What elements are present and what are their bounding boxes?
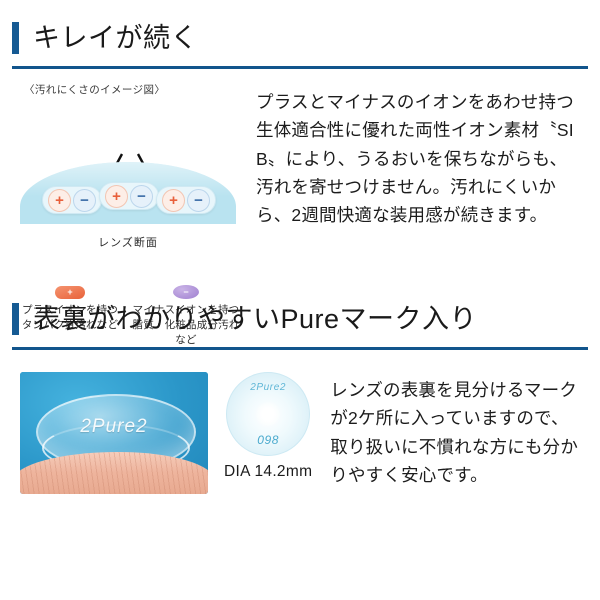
product-feature-page: キレイが続く 〈汚れにくさのイメージ図〉 + − + xyxy=(0,0,600,600)
heading-accent-bar xyxy=(12,22,19,54)
lens-engraving-text: 2Pure2 xyxy=(20,416,208,438)
section-2-content: 2Pure2 2Pure2 098 DIA 14.2mm レンズの表裏を見分ける… xyxy=(20,372,588,494)
body-line: プラスとマイナスのイオンをあわせ持つ xyxy=(256,88,574,116)
minus-ion-icon: − xyxy=(73,189,96,212)
section-2-body-text: レンズの表裏を見分けるマーク が2ケ所に入っていますので、 取り扱いに不慣れな方… xyxy=(330,372,578,489)
diameter-label: DIA 14.2mm xyxy=(224,463,312,481)
minus-ion-icon: − xyxy=(187,189,210,212)
lens-cross-section-diagram: 〈汚れにくさのイメージ図〉 + − + − + xyxy=(12,82,244,282)
minus-particle-swatch-icon: − xyxy=(173,285,199,299)
pure-mark-bottom-text: 098 xyxy=(227,433,309,447)
plus-ion-icon: + xyxy=(162,189,185,212)
legend-swatch: − xyxy=(128,284,244,300)
body-line: 生体適合性に優れた両性イオン素材〝SI xyxy=(256,116,574,144)
section-1-body-text: プラスとマイナスのイオンをあわせ持つ 生体適合性に優れた両性イオン素材〝SI B… xyxy=(256,82,574,230)
lens-cross-section-label: レンズ断面 xyxy=(12,234,244,250)
section-heading-2: 表裏がわかりやすいPureマーク入り xyxy=(12,303,477,335)
section-2-title: 表裏がわかりやすいPureマーク入り xyxy=(33,306,477,333)
section-1-title: キレイが続く xyxy=(33,25,198,52)
section-2-divider xyxy=(12,347,588,350)
plus-ion-icon: + xyxy=(105,185,128,208)
body-line: 取り扱いに不慣れな方にも分か xyxy=(330,433,578,461)
section-heading-1: キレイが続く xyxy=(12,22,198,54)
body-line: 汚れを寄せつけません。汚れにくいか xyxy=(256,173,574,201)
ion-pair: + − xyxy=(99,182,159,210)
lens-on-finger-photo: 2Pure2 xyxy=(20,372,208,494)
minus-ion-icon: − xyxy=(130,185,153,208)
pure-mark-diagram: 2Pure2 098 DIA 14.2mm xyxy=(224,372,312,481)
lens-circle-shape: 2Pure2 098 xyxy=(226,372,310,456)
body-line: ら、2週間快適な装用感が続きます。 xyxy=(256,201,574,229)
section-1-divider xyxy=(12,66,588,69)
legend-swatch: + xyxy=(12,284,128,300)
ion-pair: + − xyxy=(42,186,102,214)
fingerprint-ridges xyxy=(20,452,208,494)
body-line: りやすく安心です。 xyxy=(330,461,578,489)
plus-particle-swatch-icon: + xyxy=(55,286,85,299)
fingertip-shape xyxy=(20,452,208,494)
plus-ion-icon: + xyxy=(48,189,71,212)
body-line: レンズの表裏を見分けるマーク xyxy=(330,376,578,404)
heading-accent-bar xyxy=(12,303,19,335)
ion-pair: + − xyxy=(156,186,216,214)
body-line: B〟により、うるおいを保ちながらも、 xyxy=(256,145,574,173)
body-line: が2ケ所に入っていますので、 xyxy=(330,404,578,432)
pure-mark-top-text: 2Pure2 xyxy=(227,382,309,393)
lens-center-highlight xyxy=(255,401,281,427)
